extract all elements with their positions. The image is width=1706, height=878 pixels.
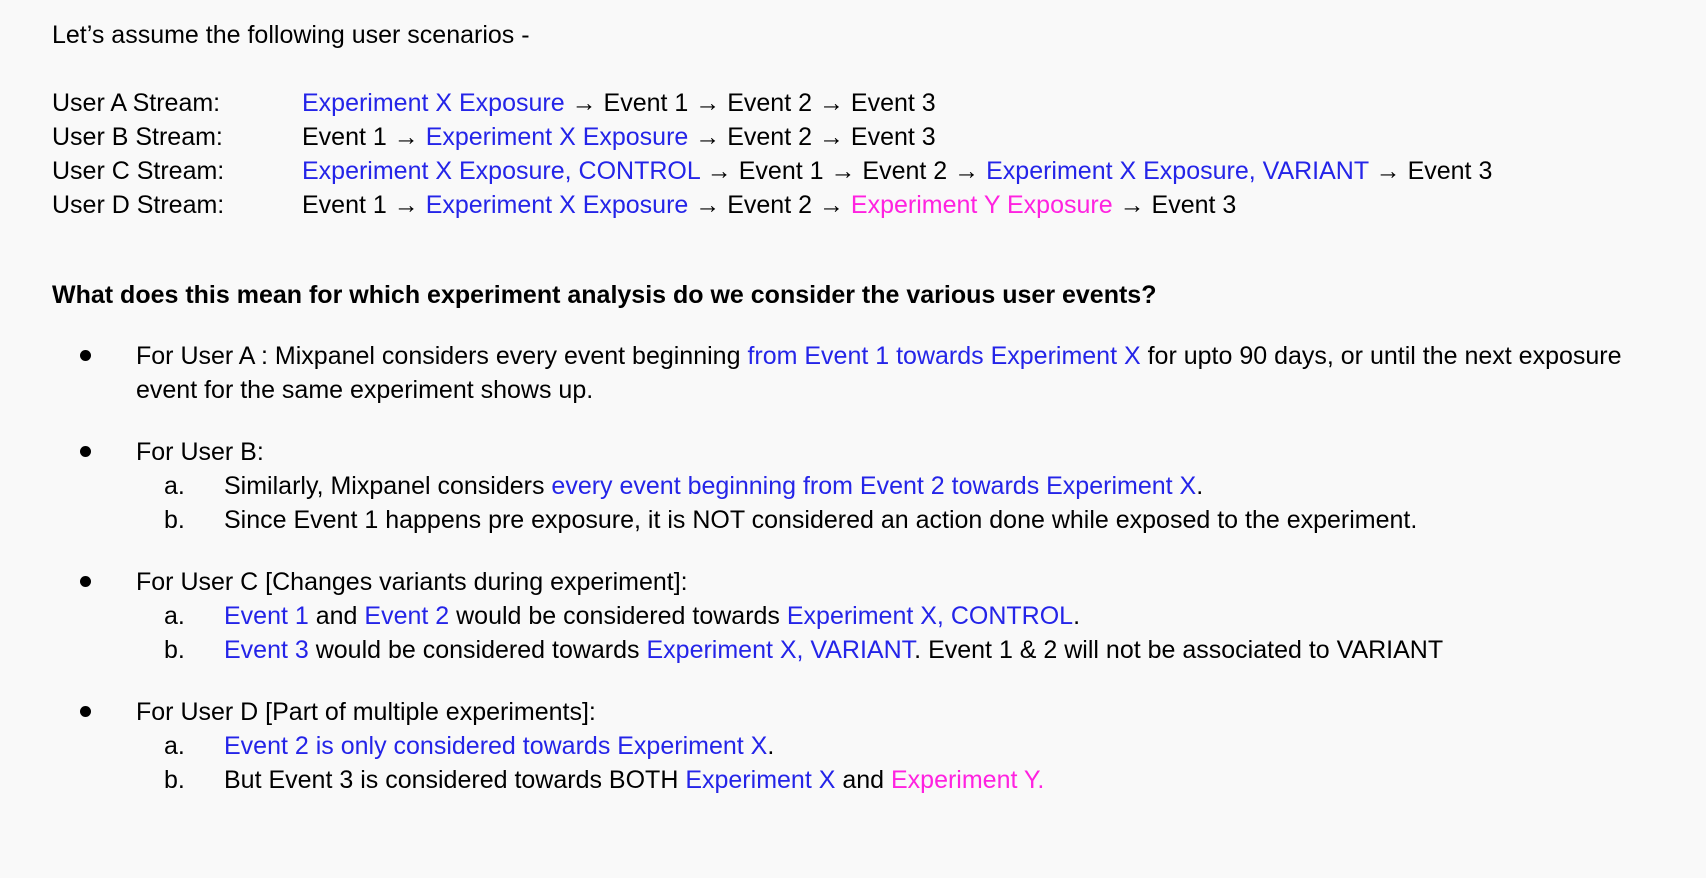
- sub-item-marker: a.: [164, 469, 185, 503]
- document-page: Let’s assume the following user scenario…: [0, 0, 1706, 878]
- text-segment: would be considered towards: [309, 636, 647, 664]
- arrow-icon: →: [394, 123, 419, 151]
- text-segment: Experiment X, CONTROL: [787, 602, 1073, 630]
- bullet-item: For User C [Changes variants during expe…: [52, 565, 1682, 599]
- bullet-block: For User A : Mixpanel considers every ev…: [52, 339, 1682, 407]
- user-stream-sequence: Experiment X Exposure, CONTROL → Event 1…: [302, 154, 1492, 188]
- sub-item: a.Similarly, Mixpanel considers every ev…: [52, 469, 1682, 503]
- arrow-icon: →: [1120, 191, 1145, 219]
- text-segment: For User D [Part of multiple experiments…: [136, 698, 596, 726]
- bullet-dot-icon: [80, 576, 91, 587]
- arrow-icon: →: [572, 89, 597, 117]
- text-segment: Since Event 1 happens pre exposure, it i…: [224, 506, 1417, 534]
- user-stream-row: User B Stream:Event 1 → Experiment X Exp…: [52, 120, 1682, 154]
- arrow-icon: →: [394, 191, 419, 219]
- user-stream-row: User D Stream:Event 1 → Experiment X Exp…: [52, 188, 1682, 222]
- text-segment: Event 3: [851, 123, 936, 151]
- text-segment: Event 3: [1152, 191, 1237, 219]
- text-segment: from Event 1 towards Experiment X: [747, 342, 1140, 370]
- analysis-bullet-list: For User A : Mixpanel considers every ev…: [52, 339, 1682, 797]
- section-question-heading: What does this mean for which experiment…: [52, 279, 1682, 311]
- text-segment: Experiment X: [685, 766, 835, 794]
- bullet-dot-icon: [80, 350, 91, 361]
- text-segment: .: [1073, 602, 1080, 630]
- sub-item-marker: a.: [164, 729, 185, 763]
- sub-item-marker: b.: [164, 503, 185, 537]
- bullet-block: For User D [Part of multiple experiments…: [52, 695, 1682, 797]
- sub-item: a.Event 2 is only considered towards Exp…: [52, 729, 1682, 763]
- text-segment: Experiment X, VARIANT: [646, 636, 914, 664]
- arrow-icon: →: [819, 191, 844, 219]
- text-segment: and: [835, 766, 891, 794]
- arrow-icon: →: [819, 123, 844, 151]
- text-segment: Event 1: [302, 191, 387, 219]
- user-stream-label: User C Stream:: [52, 154, 302, 188]
- bullet-block: For User B:a.Similarly, Mixpanel conside…: [52, 435, 1682, 537]
- text-segment: Event 2: [727, 191, 812, 219]
- text-segment: But Event 3 is considered towards BOTH: [224, 766, 685, 794]
- text-segment: Event 1: [739, 157, 824, 185]
- user-stream-label: User B Stream:: [52, 120, 302, 154]
- text-segment: Event 2: [727, 123, 812, 151]
- text-segment: every event beginning from Event 2 towar…: [551, 472, 1196, 500]
- text-segment: Event 1: [224, 602, 309, 630]
- text-segment: would be considered towards: [449, 602, 787, 630]
- arrow-icon: →: [707, 157, 732, 185]
- bullet-dot-icon: [80, 706, 91, 717]
- bullet-dot-icon: [80, 446, 91, 457]
- sub-item: a.Event 1 and Event 2 would be considere…: [52, 599, 1682, 633]
- text-segment: . Event 1 & 2 will not be associated to …: [914, 636, 1443, 664]
- text-segment: Event 1: [302, 123, 387, 151]
- text-segment: Experiment X Exposure, VARIANT: [986, 157, 1369, 185]
- text-segment: Event 3: [851, 89, 936, 117]
- arrow-icon: →: [695, 89, 720, 117]
- arrow-icon: →: [1376, 157, 1401, 185]
- sub-item-list: a.Event 1 and Event 2 would be considere…: [52, 599, 1682, 667]
- arrow-icon: →: [819, 89, 844, 117]
- arrow-icon: →: [830, 157, 855, 185]
- sub-item-list: a.Event 2 is only considered towards Exp…: [52, 729, 1682, 797]
- sub-item: b.Event 3 would be considered towards Ex…: [52, 633, 1682, 667]
- text-segment: Event 2: [727, 89, 812, 117]
- text-segment: Experiment X Exposure: [426, 123, 689, 151]
- arrow-icon: →: [954, 157, 979, 185]
- bullet-item: For User A : Mixpanel considers every ev…: [52, 339, 1682, 407]
- text-segment: .: [1196, 472, 1203, 500]
- text-segment: Event 1: [604, 89, 689, 117]
- text-segment: Event 2 is only considered towards Exper…: [224, 732, 767, 760]
- user-stream-sequence: Experiment X Exposure → Event 1 → Event …: [302, 86, 936, 120]
- text-segment: For User A : Mixpanel considers every ev…: [136, 342, 747, 370]
- sub-item-marker: b.: [164, 763, 185, 797]
- text-segment: Similarly, Mixpanel considers: [224, 472, 551, 500]
- user-stream-label: User A Stream:: [52, 86, 302, 120]
- text-segment: For User C [Changes variants during expe…: [136, 568, 688, 596]
- sub-item-marker: b.: [164, 633, 185, 667]
- user-stream-label: User D Stream:: [52, 188, 302, 222]
- bullet-item: For User D [Part of multiple experiments…: [52, 695, 1682, 729]
- text-segment: Experiment X Exposure: [302, 89, 565, 117]
- user-stream-list: User A Stream:Experiment X Exposure → Ev…: [52, 86, 1682, 222]
- text-segment: Event 2: [862, 157, 947, 185]
- text-segment: Event 3: [1408, 157, 1493, 185]
- text-segment: Event 2: [364, 602, 449, 630]
- bullet-item: For User B:: [52, 435, 1682, 469]
- user-stream-row: User C Stream:Experiment X Exposure, CON…: [52, 154, 1682, 188]
- intro-text: Let’s assume the following user scenario…: [52, 18, 1682, 52]
- arrow-icon: →: [695, 191, 720, 219]
- sub-item: b.But Event 3 is considered towards BOTH…: [52, 763, 1682, 797]
- sub-item: b.Since Event 1 happens pre exposure, it…: [52, 503, 1682, 537]
- bullet-block: For User C [Changes variants during expe…: [52, 565, 1682, 667]
- text-segment: Event 3: [224, 636, 309, 664]
- arrow-icon: →: [695, 123, 720, 151]
- text-segment: Experiment Y Exposure: [851, 191, 1113, 219]
- sub-item-list: a.Similarly, Mixpanel considers every ev…: [52, 469, 1682, 537]
- text-segment: For User B:: [136, 438, 264, 466]
- text-segment: and: [309, 602, 365, 630]
- text-segment: .: [767, 732, 774, 760]
- user-stream-sequence: Event 1 → Experiment X Exposure → Event …: [302, 120, 936, 154]
- user-stream-sequence: Event 1 → Experiment X Exposure → Event …: [302, 188, 1236, 222]
- text-segment: Experiment X Exposure, CONTROL: [302, 157, 700, 185]
- text-segment: Experiment Y.: [891, 766, 1044, 794]
- text-segment: Experiment X Exposure: [426, 191, 689, 219]
- user-stream-row: User A Stream:Experiment X Exposure → Ev…: [52, 86, 1682, 120]
- sub-item-marker: a.: [164, 599, 185, 633]
